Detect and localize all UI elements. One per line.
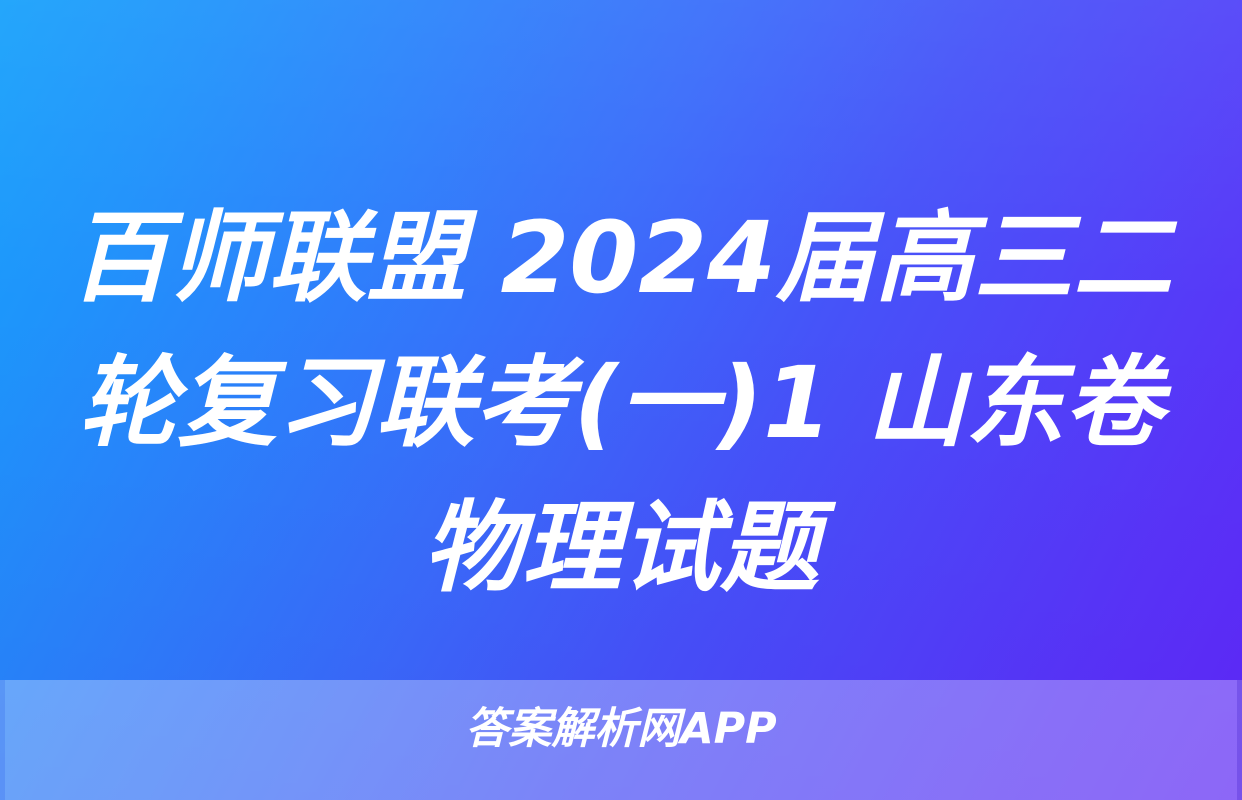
title-line-2: 轮复习联考(一)1 山东卷	[60, 331, 1182, 476]
title-line-3: 物理试题	[60, 476, 1182, 621]
watermark-brand: 答案解析网APP	[0, 703, 1242, 755]
page-title: 百师联盟 2024届高三二 轮复习联考(一)1 山东卷 物理试题	[0, 186, 1242, 621]
exam-cover-card: 百师联盟 2024届高三二 轮复习联考(一)1 山东卷 物理试题 答案解析网AP…	[0, 0, 1242, 800]
title-line-1: 百师联盟 2024届高三二	[60, 186, 1182, 331]
